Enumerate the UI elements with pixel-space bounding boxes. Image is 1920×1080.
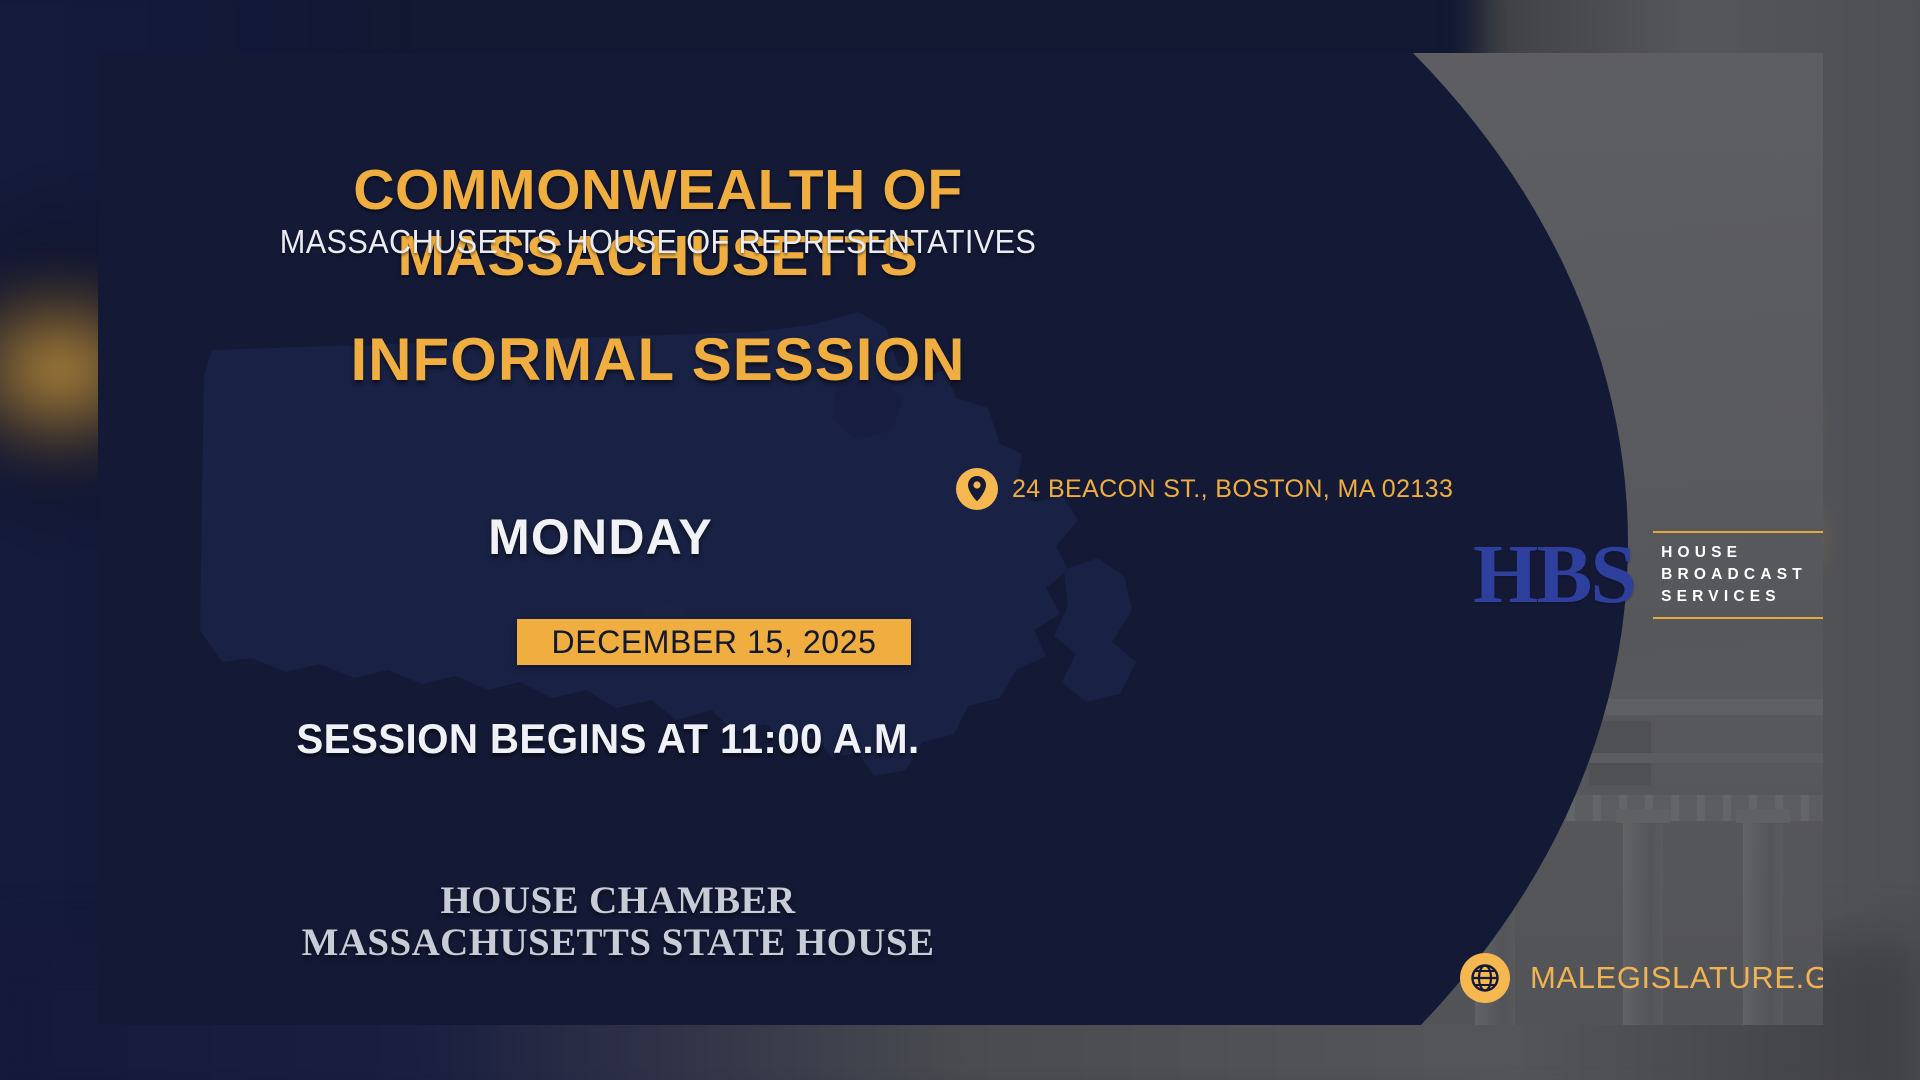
- session-type-heading: INFORMAL SESSION: [108, 325, 1208, 394]
- session-date-banner: DECEMBER 15, 2025: [517, 619, 911, 665]
- website-block[interactable]: MALEGISLATURE.GOV: [1460, 953, 1823, 1003]
- hbs-word-broadcast: BROADCAST: [1661, 564, 1823, 586]
- hbs-word-house: HOUSE: [1661, 542, 1823, 564]
- page-subtitle: MASSACHUSETTS HOUSE OF REPRESENTATIVES: [147, 223, 1170, 261]
- address-text: 24 BEACON ST., BOSTON, MA 02133: [1012, 475, 1453, 504]
- session-announcement-card: COMMONWEALTH OF MASSACHUSETTS MASSACHUSE…: [98, 53, 1823, 1025]
- venue-line-2: MASSACHUSETTS STATE HOUSE: [218, 922, 1018, 964]
- globe-icon: [1460, 953, 1510, 1003]
- venue-line-1: HOUSE CHAMBER: [218, 880, 1018, 922]
- session-day: MONDAY: [398, 508, 803, 566]
- hbs-words: HOUSE BROADCAST SERVICES: [1653, 533, 1823, 617]
- hbs-rule-bottom: [1653, 617, 1823, 619]
- session-start-time: SESSION BEGINS AT 11:00 A.M.: [253, 715, 963, 763]
- hbs-logo: HBS HOUSE BROADCAST SERVICES: [1473, 531, 1823, 619]
- hbs-wordmark: HOUSE BROADCAST SERVICES: [1653, 531, 1823, 619]
- session-date-text: DECEMBER 15, 2025: [551, 624, 876, 661]
- card-content: COMMONWEALTH OF MASSACHUSETTS MASSACHUSE…: [98, 53, 1823, 1025]
- map-pin-icon: [956, 468, 998, 510]
- hbs-word-services: SERVICES: [1661, 586, 1823, 608]
- website-url[interactable]: MALEGISLATURE.GOV: [1530, 960, 1823, 996]
- hbs-monogram: HBS: [1473, 533, 1635, 617]
- address-block: 24 BEACON ST., BOSTON, MA 02133: [956, 468, 1453, 510]
- venue-block: HOUSE CHAMBER MASSACHUSETTS STATE HOUSE: [218, 880, 1018, 964]
